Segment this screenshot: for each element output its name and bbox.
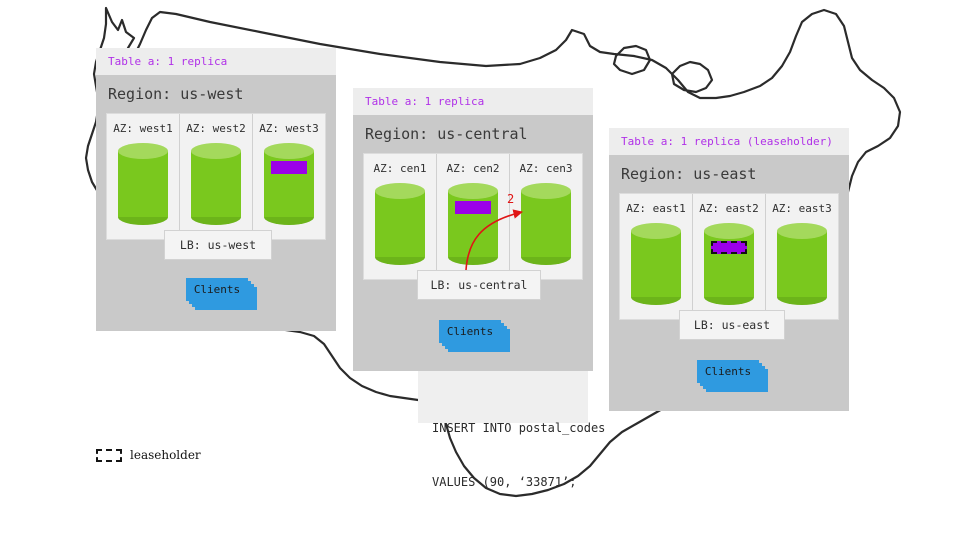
cylinder-shape-east3: [777, 223, 827, 305]
cylinder-body: [777, 231, 827, 297]
cylinder-body: [191, 151, 241, 217]
az-cell-cen3[interactable]: AZ: cen3: [510, 154, 582, 279]
region-title-us-central: Region: us-central: [353, 115, 593, 153]
arrow-step-label-2: 2: [507, 192, 514, 206]
node-cylinder-west3[interactable]: [264, 143, 314, 225]
region-title-us-east: Region: us-east: [609, 155, 849, 193]
clients-label-us-east[interactable]: Clients: [697, 360, 759, 383]
clients-label-us-west[interactable]: Clients: [186, 278, 248, 301]
cylinder-body: [375, 191, 425, 257]
clients-stack-us-east[interactable]: Clients: [697, 360, 759, 383]
replica-block-cen2: [455, 201, 491, 214]
sql-line-1: INSERT INTO postal_codes: [432, 419, 574, 437]
az-row-us-central: AZ: cen1 AZ: cen2: [363, 153, 583, 280]
replica-header-us-east: Table a: 1 replica (leaseholder): [609, 128, 849, 155]
sql-statement-note: INSERT INTO postal_codes VALUES (90, ‘33…: [418, 371, 588, 423]
replica-block-west3: [271, 161, 307, 174]
az-label-cen2: AZ: cen2: [437, 162, 509, 175]
cylinder-shape-west2: [191, 143, 241, 225]
cylinder-top: [191, 143, 241, 159]
cylinder-top: [264, 143, 314, 159]
clients-stack-us-west[interactable]: Clients: [186, 278, 248, 301]
map-great-lakes-erie: [672, 62, 712, 92]
az-label-east2: AZ: east2: [693, 202, 765, 215]
node-cylinder-west1[interactable]: [118, 143, 168, 225]
cylinder-top: [777, 223, 827, 239]
az-row-us-east: AZ: east1 AZ: east2: [619, 193, 839, 320]
replica-header-us-central: Table a: 1 replica: [353, 88, 593, 115]
cylinder-shape-west1: [118, 143, 168, 225]
node-cylinder-cen3[interactable]: [521, 183, 571, 265]
az-cell-east3[interactable]: AZ: east3: [766, 194, 838, 319]
az-cell-cen1[interactable]: AZ: cen1: [364, 154, 437, 279]
cylinder-top: [631, 223, 681, 239]
cylinder-top: [118, 143, 168, 159]
az-cell-west1[interactable]: AZ: west1: [107, 114, 180, 239]
az-cell-cen2[interactable]: AZ: cen2: [437, 154, 510, 279]
az-label-east3: AZ: east3: [766, 202, 838, 215]
az-label-east1: AZ: east1: [620, 202, 692, 215]
az-row-us-west: AZ: west1 AZ: west2: [106, 113, 326, 240]
az-label-west1: AZ: west1: [107, 122, 179, 135]
az-label-west3: AZ: west3: [253, 122, 325, 135]
clients-stack-us-central[interactable]: Clients: [439, 320, 501, 343]
clients-label-us-central[interactable]: Clients: [439, 320, 501, 343]
cylinder-top: [375, 183, 425, 199]
load-balancer-us-central[interactable]: LB: us-central: [417, 270, 541, 300]
sql-line-2: VALUES (90, ‘33871’;: [432, 473, 574, 491]
cylinder-shape-east2: [704, 223, 754, 305]
node-cylinder-east2[interactable]: [704, 223, 754, 305]
node-cylinder-west2[interactable]: [191, 143, 241, 225]
node-cylinder-east1[interactable]: [631, 223, 681, 305]
az-cell-east2[interactable]: AZ: east2: [693, 194, 766, 319]
az-cell-east1[interactable]: AZ: east1: [620, 194, 693, 319]
region-panel-us-east: Table a: 1 replica (leaseholder) Region:…: [609, 128, 849, 411]
cylinder-shape-east1: [631, 223, 681, 305]
cylinder-shape-west3: [264, 143, 314, 225]
legend: leaseholder: [96, 448, 201, 462]
az-label-cen3: AZ: cen3: [510, 162, 582, 175]
replica-block-leaseholder-east2: [711, 241, 747, 254]
diagram-canvas: Table a: 1 replica Region: us-west AZ: w…: [0, 0, 960, 540]
cylinder-shape-cen1: [375, 183, 425, 265]
cylinder-body: [631, 231, 681, 297]
replica-header-us-west: Table a: 1 replica: [96, 48, 336, 75]
node-cylinder-cen1[interactable]: [375, 183, 425, 265]
load-balancer-us-east[interactable]: LB: us-east: [679, 310, 785, 340]
az-label-west2: AZ: west2: [180, 122, 252, 135]
cylinder-body: [521, 191, 571, 257]
map-great-lakes-superior: [614, 46, 650, 74]
az-cell-west2[interactable]: AZ: west2: [180, 114, 253, 239]
region-panel-us-central: Table a: 1 replica Region: us-central AZ…: [353, 88, 593, 371]
cylinder-shape-cen2: [448, 183, 498, 265]
node-cylinder-east3[interactable]: [777, 223, 827, 305]
cylinder-top: [448, 183, 498, 199]
region-title-us-west: Region: us-west: [96, 75, 336, 113]
az-label-cen1: AZ: cen1: [364, 162, 436, 175]
cylinder-body: [118, 151, 168, 217]
legend-label-leaseholder: leaseholder: [130, 448, 201, 462]
cylinder-top: [521, 183, 571, 199]
az-cell-west3[interactable]: AZ: west3: [253, 114, 325, 239]
cylinder-shape-cen3: [521, 183, 571, 265]
cylinder-top: [704, 223, 754, 239]
load-balancer-us-west[interactable]: LB: us-west: [164, 230, 272, 260]
node-cylinder-cen2[interactable]: [448, 183, 498, 265]
dashed-rectangle-icon: [96, 449, 122, 462]
region-panel-us-west: Table a: 1 replica Region: us-west AZ: w…: [96, 48, 336, 331]
